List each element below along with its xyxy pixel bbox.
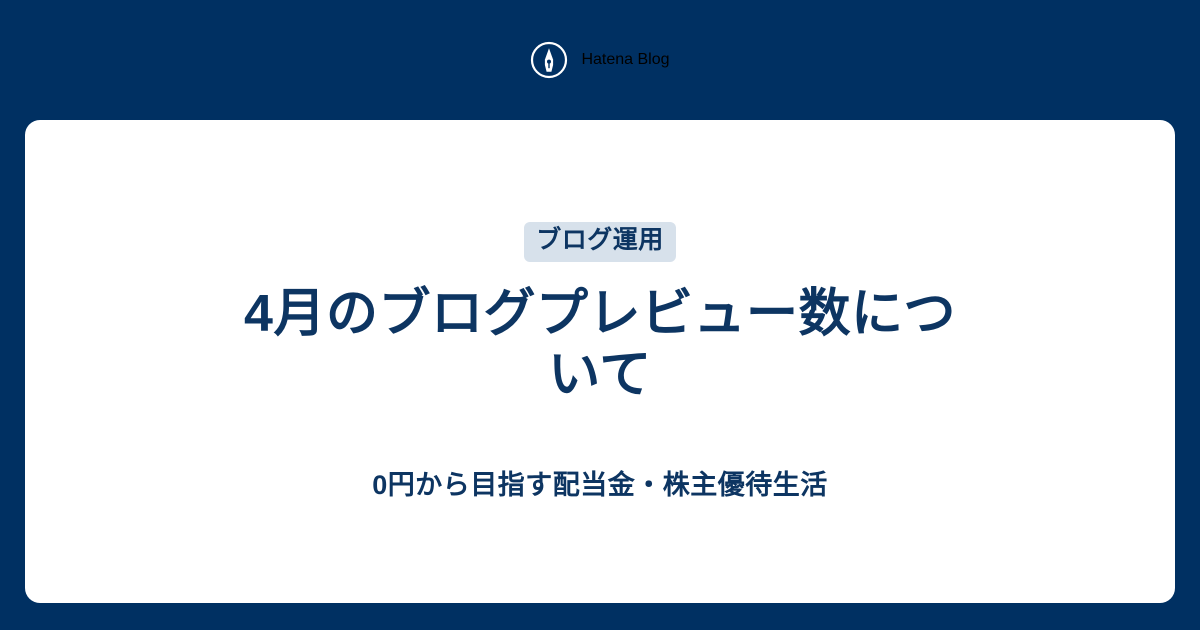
entry-content-card: ブログ運用 4月のブログプレビュー数について 0円から目指す配当金・株主優待生活: [25, 120, 1175, 603]
hatena-blog-og-card: Hatena Blog ブログ運用 4月のブログプレビュー数について 0円から目…: [0, 0, 1200, 630]
fountain-pen-nib-in-circle-icon: [530, 41, 568, 79]
blog-name[interactable]: 0円から目指す配当金・株主優待生活: [372, 469, 828, 501]
brand-name: Hatena Blog: [581, 51, 669, 69]
entry-title: 4月のブログプレビュー数について: [240, 284, 960, 407]
entry-category-tag[interactable]: ブログ運用: [524, 222, 676, 262]
brand-header: Hatena Blog: [0, 0, 1200, 120]
